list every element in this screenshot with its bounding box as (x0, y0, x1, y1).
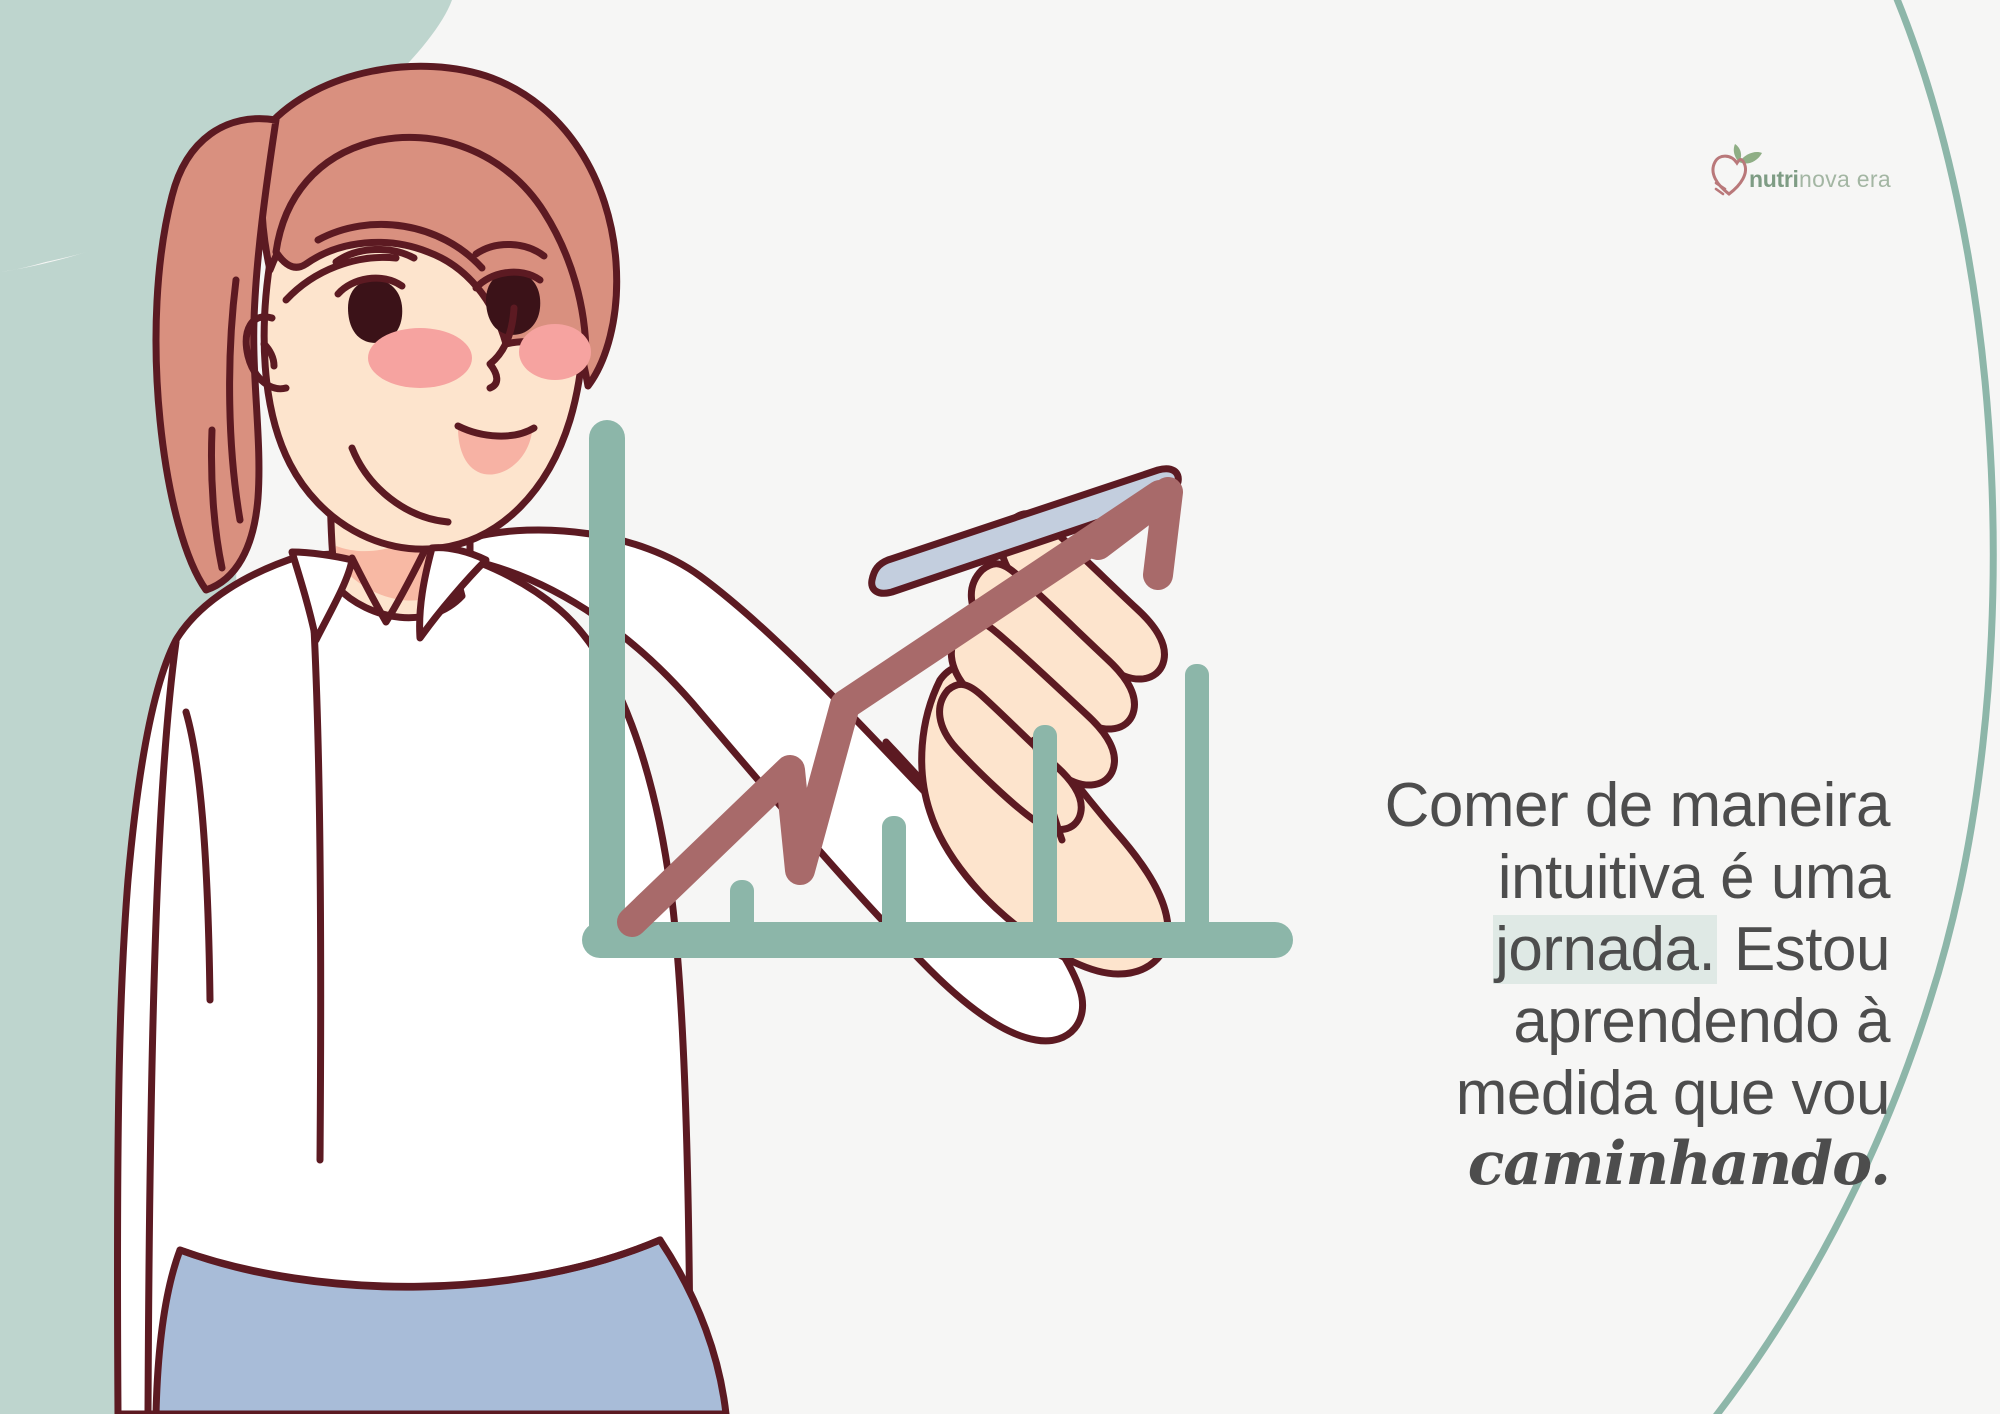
chart-bar-2 (882, 816, 906, 942)
blush-left (368, 328, 472, 388)
illustration-woman-with-chart (0, 0, 2000, 1414)
quote-line-4: aprendendo à (1245, 986, 1890, 1058)
quote-line-5: medida que vou (1245, 1058, 1890, 1130)
chart-bar-1 (730, 880, 754, 942)
logo-word-nutri: nutri (1749, 166, 1799, 192)
logo-svg: nutri nova era (1705, 140, 1895, 202)
quote-line-1: Comer de maneira (1245, 770, 1890, 842)
quote-line-6-emphasis: caminhando. (1245, 1130, 1890, 1200)
quote-highlight: jornada. (1493, 915, 1717, 984)
chart-bar-3 (1033, 725, 1057, 942)
blush-right (519, 324, 591, 380)
quote-line-3: jornada. Estou (1245, 914, 1890, 986)
quote-line-3-post: Estou (1717, 915, 1890, 984)
logo-word-nova-era: nova era (1799, 166, 1891, 192)
quote-line-2: intuitiva é uma (1245, 842, 1890, 914)
chart-bar-4 (1185, 664, 1209, 942)
poster-canvas: nutri nova era Comer de maneira intuitiv… (0, 0, 2000, 1414)
brand-logo[interactable]: nutri nova era (1705, 140, 1895, 202)
quote-text-block: Comer de maneira intuitiva é uma jornada… (1245, 770, 1890, 1199)
